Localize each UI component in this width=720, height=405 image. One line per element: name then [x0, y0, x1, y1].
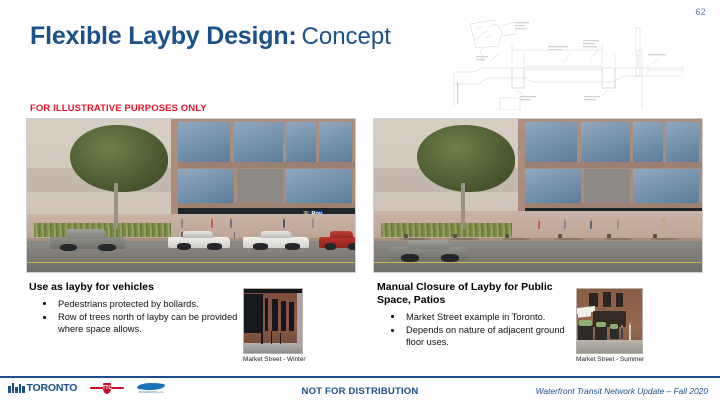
caption-right-bullets: Market Street example in Toronto. Depend…	[377, 311, 567, 349]
page-title-strong: Flexible Layby Design:	[30, 22, 297, 50]
illustrative-purposes-notice: FOR ILLUSTRATIVE PURPOSES ONLY	[30, 103, 207, 114]
thumbnail-market-street-winter: Market Street - Winter	[243, 288, 303, 363]
list-item: Row of trees north of layby can be provi…	[29, 311, 239, 335]
list-item: Depends on nature of adjacent ground flo…	[377, 324, 567, 348]
footer-deck-title: Waterfront Transit Network Update – Fall…	[536, 386, 708, 396]
layby-cross-section-drawing	[452, 10, 692, 110]
list-item: Market Street example in Toronto.	[377, 311, 567, 323]
slide-canvas: 62 Flexible Layby Design:Concept FOR ILL…	[0, 0, 720, 405]
caption-right-heading: Manual Closure of Layby for Public Space…	[377, 281, 567, 307]
rendering-layby-vehicles: STARBUCKS RRoy	[26, 118, 356, 273]
page-title: Flexible Layby Design:Concept	[30, 22, 391, 51]
thumbnail-image-summer	[576, 288, 643, 354]
vehicle-hatchback	[168, 231, 230, 248]
caption-right: Manual Closure of Layby for Public Space…	[377, 281, 567, 348]
caption-left-bullets: Pedestrians protected by bollards. Row o…	[29, 298, 239, 336]
vehicle-sedan	[243, 231, 309, 248]
thumbnail-caption-summer: Market Street - Summer	[576, 356, 643, 363]
vehicle-suv	[390, 240, 469, 260]
thumbnail-image-winter	[243, 288, 303, 354]
vehicle-suv	[50, 229, 125, 249]
page-title-light: Concept	[302, 23, 391, 50]
caption-left: Use as layby for vehicles Pedestrians pr…	[29, 281, 239, 336]
thumbnail-caption-winter: Market Street - Winter	[243, 356, 303, 363]
page-number: 62	[695, 7, 706, 17]
footer-divider	[0, 376, 720, 378]
thumbnail-market-street-summer: Market Street - Summer	[576, 288, 643, 363]
list-item: Pedestrians protected by bollards.	[29, 298, 239, 310]
caption-left-heading: Use as layby for vehicles	[29, 281, 239, 294]
rendering-layby-public-space: STARBUCKS RRoy	[373, 118, 703, 273]
vehicle-red-car	[319, 231, 356, 248]
